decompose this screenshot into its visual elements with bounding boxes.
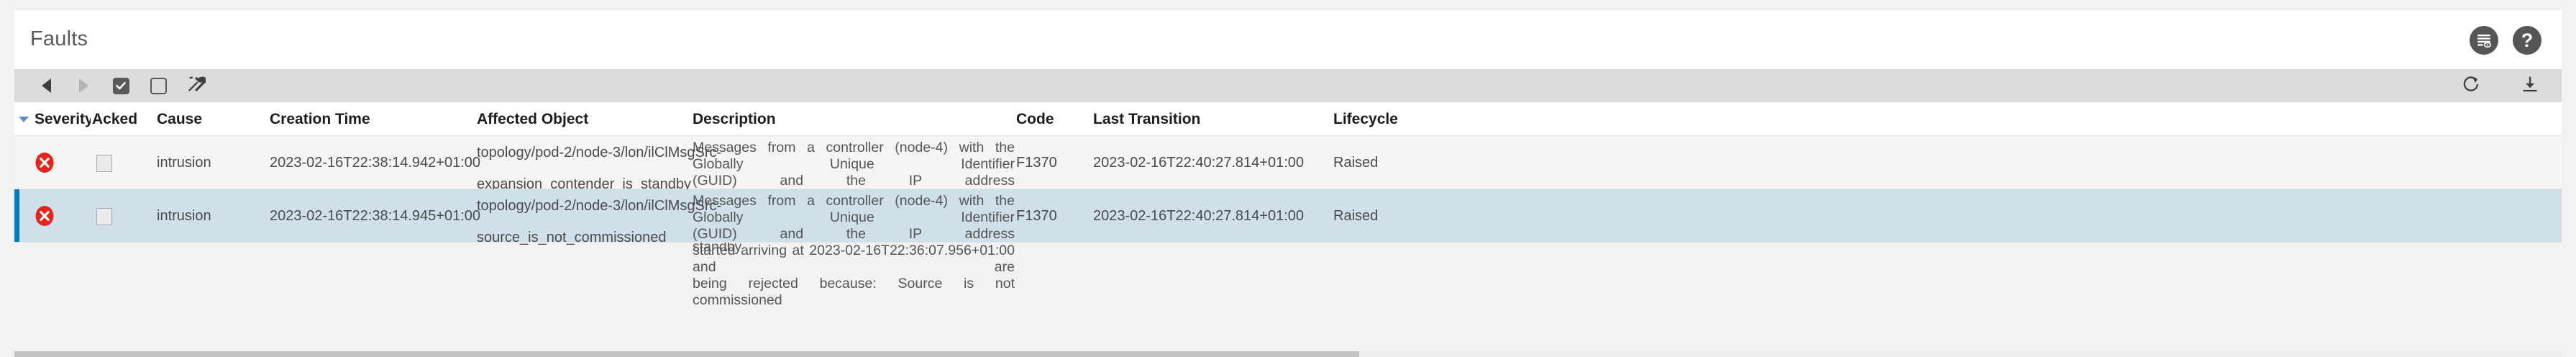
scrollbar-thumb[interactable] xyxy=(14,351,1359,357)
affected-object-line-1: topology/pod-2/node-3/lon/ilClMsgSrc- xyxy=(477,142,693,163)
cell-lifecycle: Raised xyxy=(1333,155,1378,171)
help-icon[interactable]: ? xyxy=(2513,26,2541,55)
faults-page: Faults ? xyxy=(0,0,2576,357)
select-all-checkbox[interactable] xyxy=(102,69,140,102)
cell-code: F1370 xyxy=(1016,208,1057,225)
toolbar-right-group xyxy=(2452,69,2549,102)
download-icon xyxy=(2521,75,2539,97)
affected-object-line-2: source_is_not_commissioned xyxy=(477,227,693,248)
deselect-all-checkbox[interactable] xyxy=(140,69,177,102)
table-toolbar xyxy=(14,69,2562,102)
column-header-cause[interactable]: Cause xyxy=(157,111,202,128)
description-line-2: (GUID) and the IP address xyxy=(693,226,1015,243)
affected-object-line-1: topology/pod-2/node-3/lon/ilClMsgSrc- xyxy=(477,195,693,217)
refresh-button[interactable] xyxy=(2452,69,2490,102)
table-row[interactable]: intrusion 2023-02-16T22:38:14.942+01:00 … xyxy=(14,136,2562,189)
page-header-card: Faults ? xyxy=(14,10,2562,69)
cell-affected-object: topology/pod-2/node-3/lon/ilClMsgSrc- so… xyxy=(477,195,693,248)
help-glyph: ? xyxy=(2521,31,2534,50)
description-line-3: started arriving at 2023-02-16T22:36:07.… xyxy=(693,243,1015,276)
cell-last-transition: 2023-02-16T22:40:27.814+01:00 xyxy=(1093,155,1304,171)
column-header-lifecycle[interactable]: Lifecycle xyxy=(1333,111,1398,128)
download-button[interactable] xyxy=(2511,69,2549,102)
hammer-wrench-icon xyxy=(186,74,206,98)
cell-code: F1370 xyxy=(1016,155,1057,171)
next-page-button[interactable] xyxy=(65,69,102,102)
checkbox-empty-icon xyxy=(150,78,167,94)
row-selection-indicator xyxy=(14,189,19,242)
table-row[interactable]: intrusion 2023-02-16T22:38:14.945+01:00 … xyxy=(14,189,2562,243)
checkbox-checked-icon xyxy=(113,78,129,94)
cell-last-transition: 2023-02-16T22:40:27.814+01:00 xyxy=(1093,208,1304,225)
refresh-icon xyxy=(2462,75,2480,97)
sort-descending-icon[interactable] xyxy=(19,117,29,122)
column-header-creation-time[interactable]: Creation Time xyxy=(270,111,370,128)
description-line-1: Messages from a controller (node-4) with… xyxy=(693,193,1015,226)
column-header-severity[interactable]: Severity xyxy=(35,111,91,128)
acked-checkbox[interactable] xyxy=(96,208,112,225)
critical-error-icon[interactable] xyxy=(34,205,55,227)
faults-table: Severity Acked Cause Creation Time Affec… xyxy=(14,102,2562,243)
cell-lifecycle: Raised xyxy=(1333,208,1378,225)
tools-button[interactable] xyxy=(177,69,214,102)
column-header-acked[interactable]: Acked xyxy=(92,111,137,128)
column-header-description[interactable]: Description xyxy=(693,111,776,128)
table-header-row: Severity Acked Cause Creation Time Affec… xyxy=(14,102,2562,136)
triangle-left-icon xyxy=(42,78,51,93)
acked-checkbox[interactable] xyxy=(96,155,112,172)
triangle-right-icon xyxy=(79,78,88,93)
cell-cause: intrusion xyxy=(157,155,211,171)
toolbar-left-group xyxy=(27,69,214,102)
critical-error-icon[interactable] xyxy=(34,152,55,173)
header-actions: ? xyxy=(2470,26,2541,55)
log-view-icon[interactable] xyxy=(2470,26,2498,55)
page-title: Faults xyxy=(30,27,88,51)
cell-affected-object: topology/pod-2/node-3/lon/ilClMsgSrc- ex… xyxy=(477,142,693,195)
column-header-last-transition[interactable]: Last Transition xyxy=(1093,111,1200,128)
horizontal-scrollbar[interactable] xyxy=(14,351,2562,357)
column-header-affected-object[interactable]: Affected Object xyxy=(477,111,588,128)
cell-cause: intrusion xyxy=(157,208,211,225)
column-header-code[interactable]: Code xyxy=(1016,111,1054,128)
description-line-1: Messages from a controller (node-4) with… xyxy=(693,140,1015,173)
previous-page-button[interactable] xyxy=(27,69,65,102)
cell-creation-time: 2023-02-16T22:38:14.942+01:00 xyxy=(270,155,480,171)
description-line-4: being rejected because: Source is not co… xyxy=(693,276,1015,309)
description-line-2: (GUID) and the IP address xyxy=(693,173,1015,189)
cell-description: Messages from a controller (node-4) with… xyxy=(693,193,1015,309)
cell-creation-time: 2023-02-16T22:38:14.945+01:00 xyxy=(270,208,480,225)
